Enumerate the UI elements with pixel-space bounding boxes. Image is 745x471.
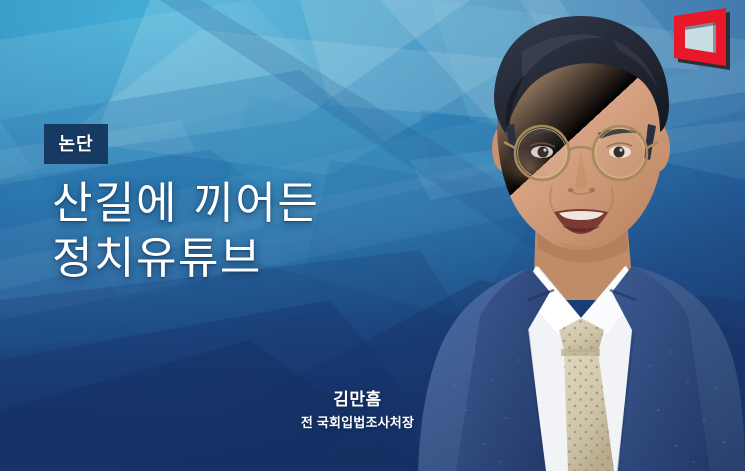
category-badge[interactable]: 논단 bbox=[44, 124, 108, 164]
red-quadrilateral-logo-icon[interactable] bbox=[672, 8, 734, 76]
headline-line-2: 정치유튜브 bbox=[52, 231, 452, 286]
category-badge-label: 논단 bbox=[58, 135, 93, 153]
byline-author-name: 김만흠 bbox=[245, 390, 470, 410]
headline-line-1: 산길에 끼어든 bbox=[52, 176, 452, 231]
article-hero-card: 논단 산길에 끼어든 정치유튜브 김만흠 전 국회입법조사처장 bbox=[0, 0, 745, 471]
byline-author-role: 전 국회입법조사처장 bbox=[245, 415, 470, 431]
byline: 김만흠 전 국회입법조사처장 bbox=[245, 390, 470, 431]
page-title: 산길에 끼어든 정치유튜브 bbox=[52, 176, 452, 287]
